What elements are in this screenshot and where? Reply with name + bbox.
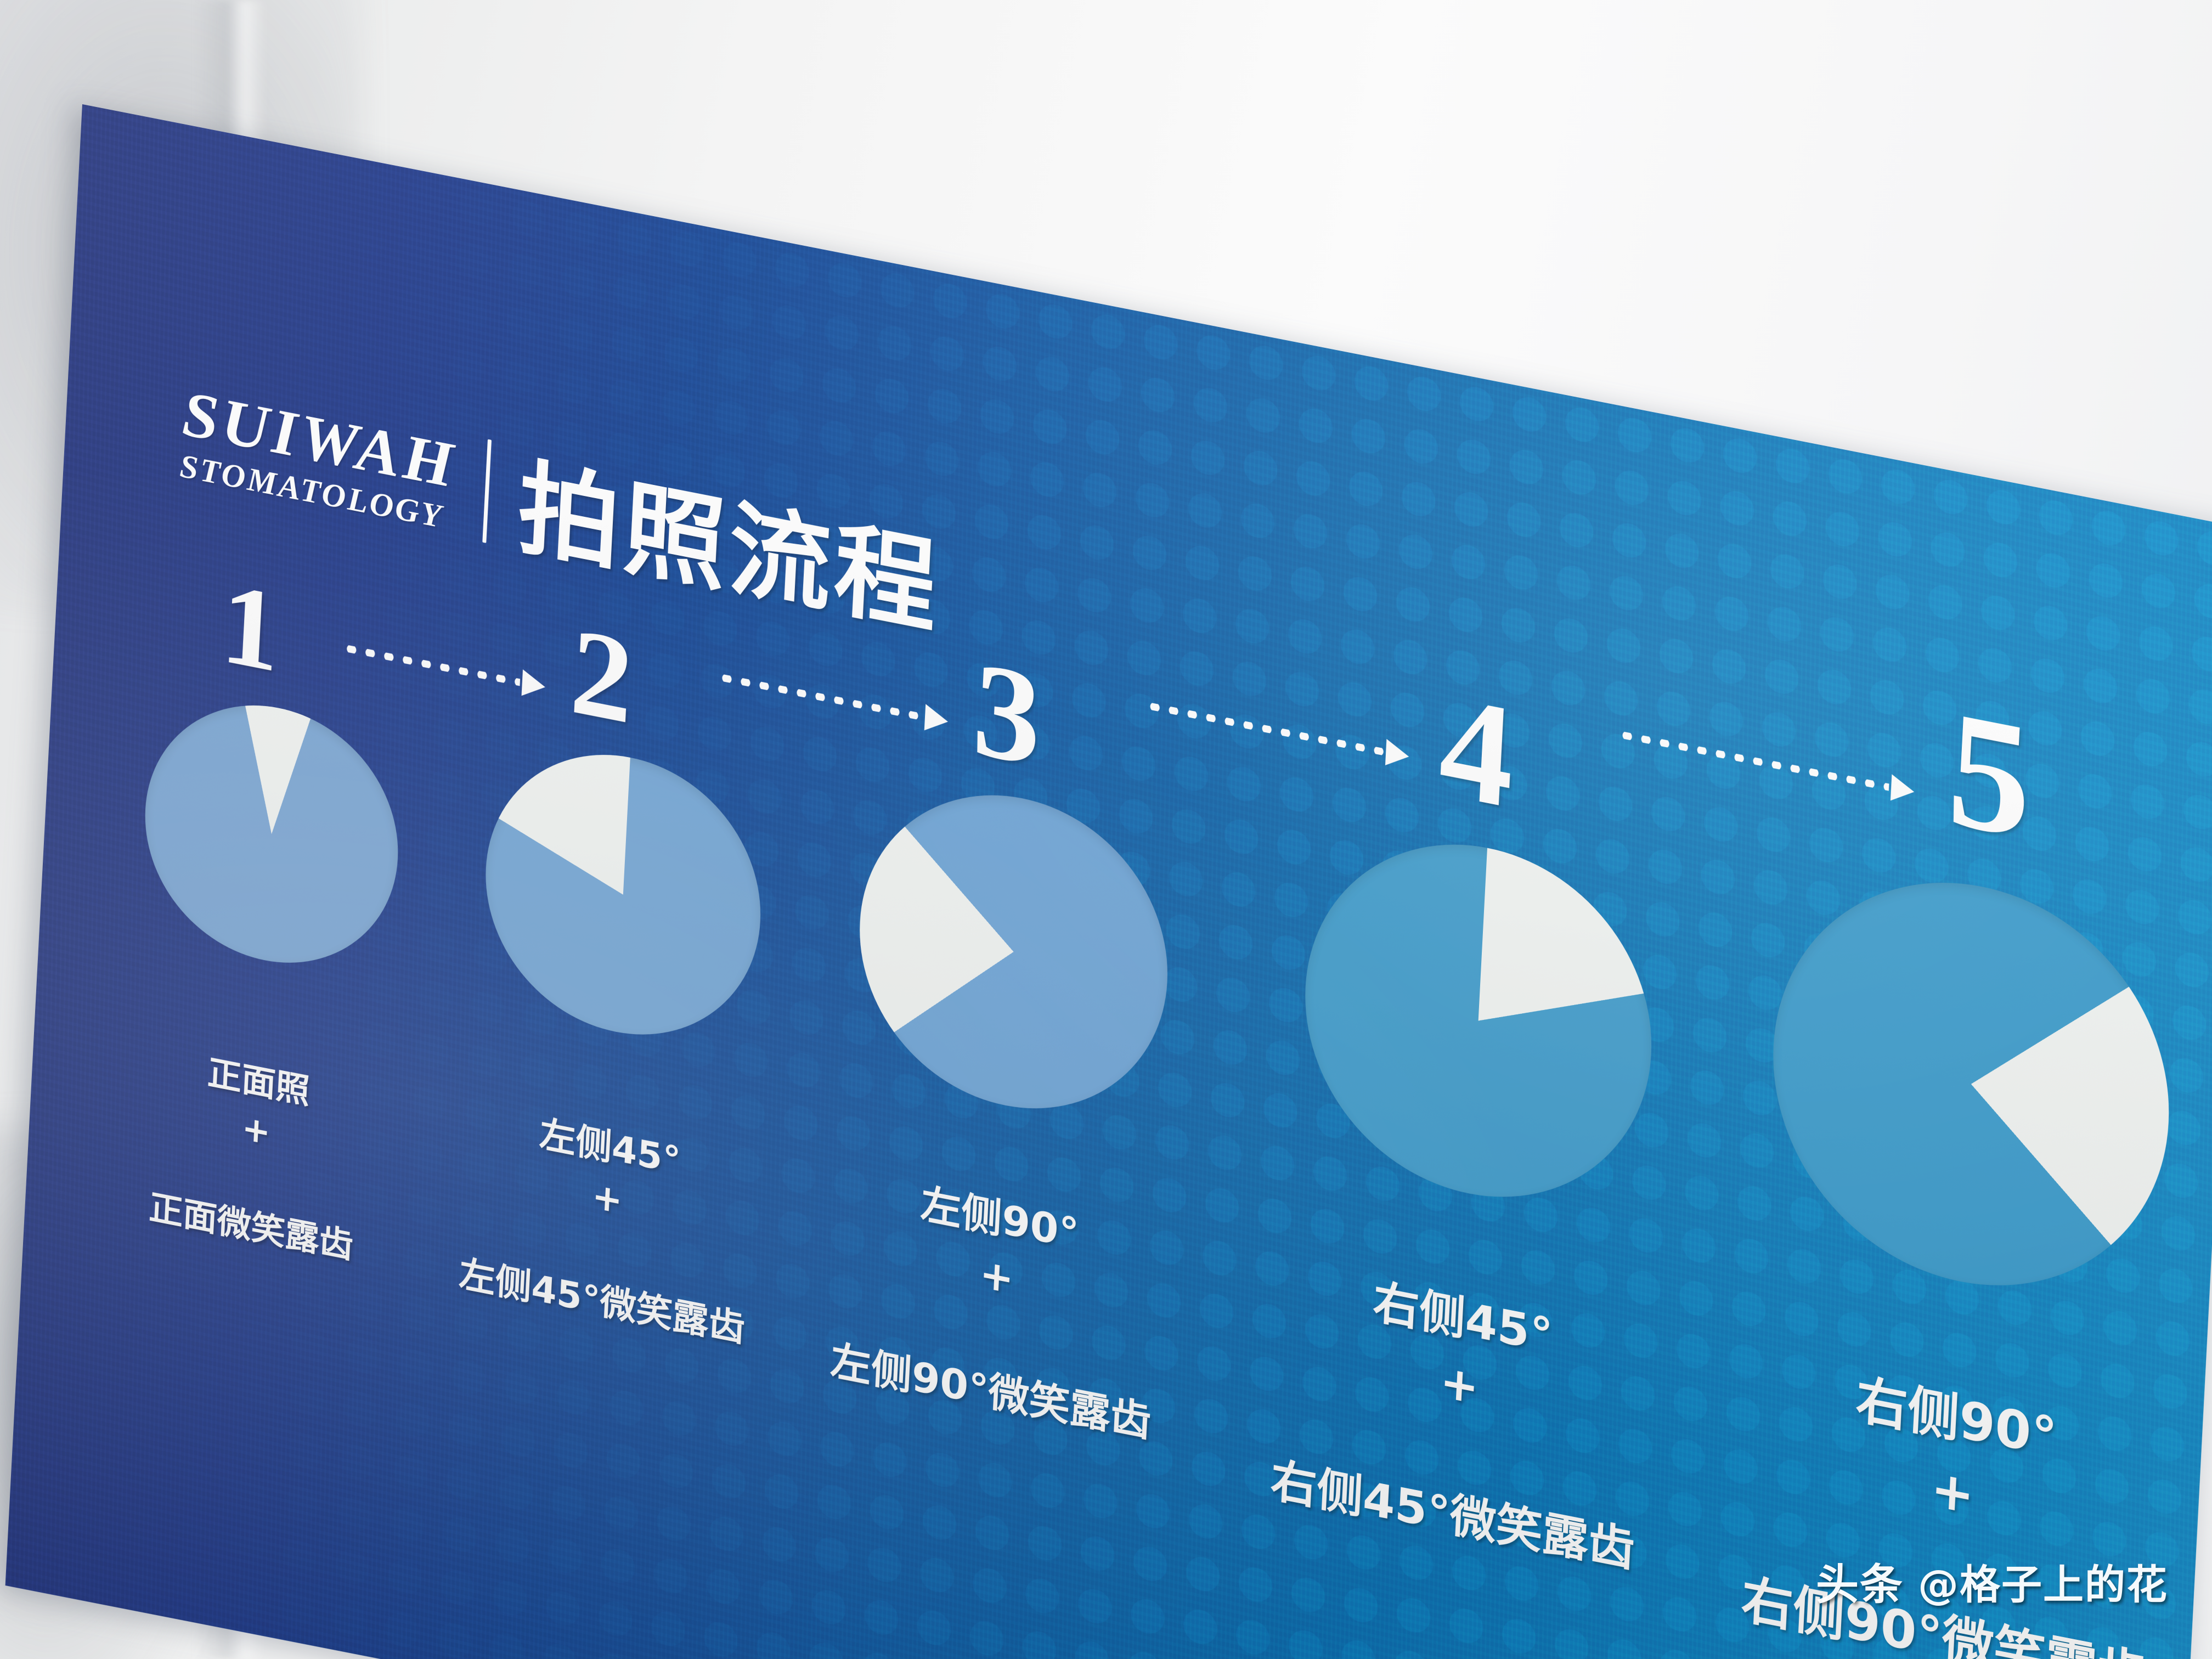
step-number-5: 5 (1944, 684, 2035, 865)
arrow-head-icon (1385, 739, 1409, 770)
pie-wedge-4 (1296, 814, 1660, 1227)
step-sequence: 1 正面照 + 正面微笑露齿 (5, 104, 2212, 1659)
arrow-2-to-3 (718, 672, 949, 726)
arrow-1-to-2 (342, 643, 545, 692)
pie-inner-3 (852, 768, 1175, 1136)
caption-bottom-3: 左侧90°微笑露齿 (830, 1337, 1152, 1447)
pie-diagram-5 (1763, 848, 2179, 1320)
arrow-4-to-5 (1618, 730, 1915, 797)
arrow-head-icon (1891, 774, 1915, 805)
arrow-head-icon (924, 704, 949, 735)
watermark-handle: @格子上的花 (1918, 1552, 2168, 1611)
arrow-dots (1618, 730, 1889, 791)
pie-inner-5 (1763, 848, 2179, 1320)
step-number-4: 4 (1436, 670, 1517, 832)
step-number-1: 1 (219, 565, 283, 691)
step-caption-3: 左侧90° + 左侧90°微笑露齿 (753, 1087, 1240, 1468)
pie-wedge-1 (139, 683, 404, 985)
pie-wedge-2 (479, 731, 768, 1059)
arrow-dots (1145, 702, 1384, 755)
pie-diagram-3 (852, 768, 1175, 1136)
pie-wedge-5 (1763, 848, 2179, 1320)
signboard: SUIWAH STOMATOLOGY 拍照流程 1 正 (5, 104, 2212, 1659)
caption-bottom-2: 左侧45°微笑露齿 (458, 1252, 746, 1351)
step-caption-2: 左侧45° + 左侧45°微笑露齿 (403, 1031, 811, 1366)
caption-bottom-4: 右侧45°微笑露齿 (1269, 1453, 1636, 1578)
pie-diagram-4 (1296, 814, 1660, 1227)
arrow-dots (342, 644, 520, 686)
step-caption-1: 正面照 + 正面微笑露齿 (66, 974, 446, 1287)
pie-wedge-3 (852, 768, 1175, 1136)
pie-inner-2 (479, 731, 768, 1059)
caption-bottom-1: 正面微笑露齿 (148, 1187, 354, 1267)
watermark: 头条 @格子上的花 (1816, 1550, 2168, 1612)
pie-diagram-1 (139, 683, 404, 985)
watermark-brand: 头条 (1816, 1550, 1904, 1612)
step-number-3: 3 (970, 640, 1044, 787)
pie-inner-4 (1296, 814, 1660, 1227)
step-number-2: 2 (568, 608, 636, 743)
arrow-head-icon (522, 669, 546, 700)
signboard-surface: SUIWAH STOMATOLOGY 拍照流程 1 正 (5, 104, 2212, 1659)
photo-scene: SUIWAH STOMATOLOGY 拍照流程 1 正 (0, 0, 2212, 1659)
arrow-dots (718, 673, 923, 720)
arrow-3-to-4 (1145, 701, 1409, 761)
pie-inner-1 (139, 683, 404, 985)
pie-diagram-2 (479, 731, 768, 1059)
